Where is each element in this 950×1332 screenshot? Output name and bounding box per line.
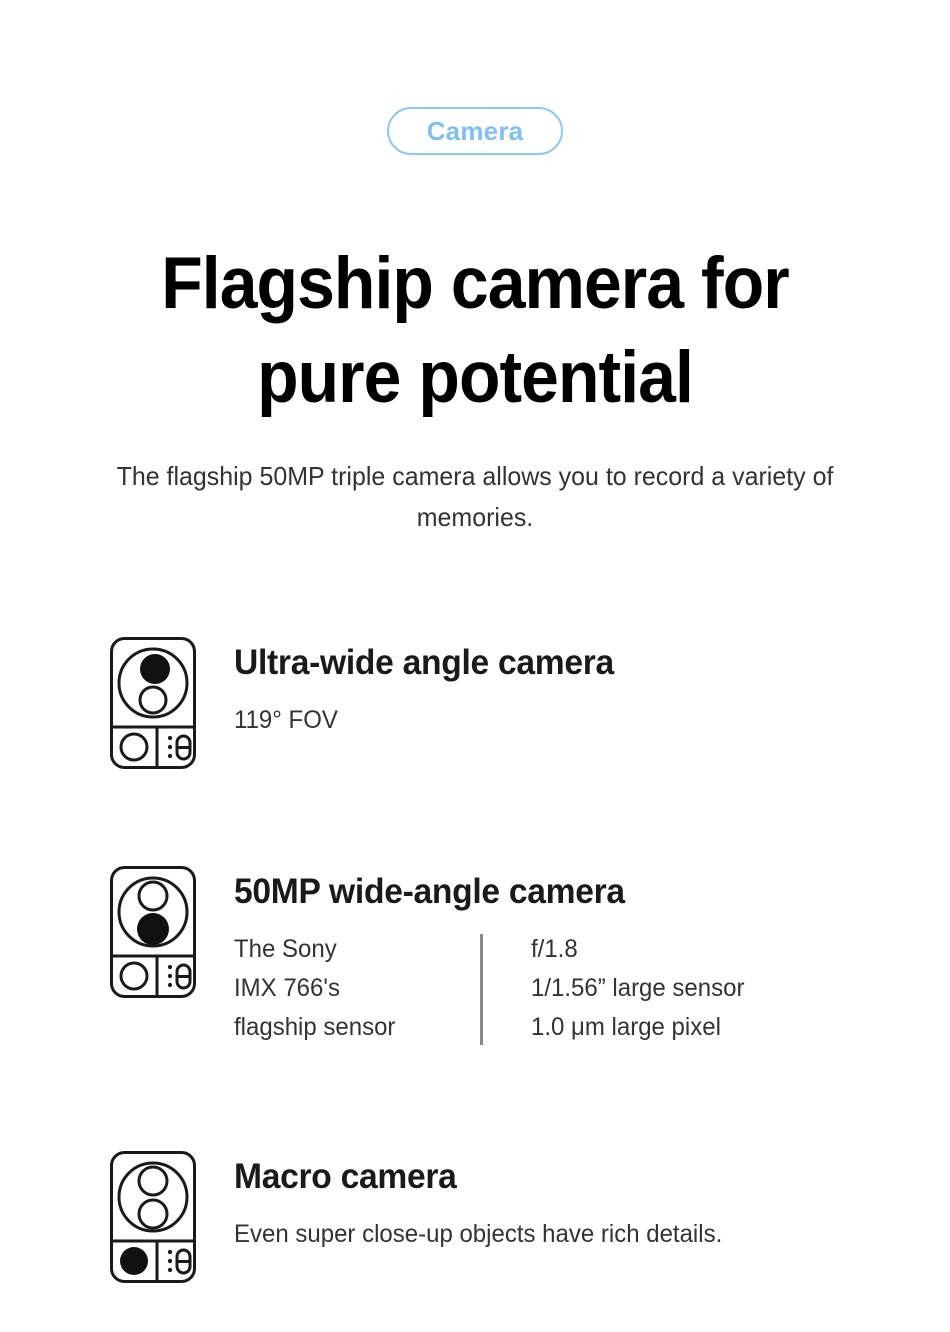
feature-title-wide-angle: 50MP wide-angle camera — [234, 872, 733, 912]
spec-left-line-1: The Sony — [234, 930, 470, 969]
badge-container: Camera — [0, 107, 950, 155]
feature-title-ultra-wide: Ultra-wide angle camera — [234, 643, 614, 683]
camera-module-macro-icon — [110, 1151, 196, 1283]
spec-column-right: f/1.8 1/1.56” large sensor 1.0 μm large … — [483, 930, 753, 1047]
page-title-line-1: Flagship camera for — [161, 243, 788, 324]
camera-badge-label: Camera — [427, 118, 524, 144]
spec-right-line-2: 1/1.56” large sensor — [531, 969, 744, 1008]
feature-body-wide-angle: 50MP wide-angle camera The Sony IMX 766'… — [234, 866, 753, 1047]
page-title: Flagship camera for pure potential — [89, 237, 861, 425]
camera-module-wideangle-icon — [110, 866, 196, 998]
feature-title-macro: Macro camera — [234, 1157, 722, 1197]
feature-sub-macro: Even super close-up objects have rich de… — [234, 1215, 722, 1254]
spec-columns: The Sony IMX 766's flagship sensor f/1.8… — [234, 930, 753, 1047]
camera-badge[interactable]: Camera — [387, 107, 563, 155]
spec-right-line-3: 1.0 μm large pixel — [531, 1008, 744, 1047]
feature-row-macro: Macro camera Even super close-up objects… — [110, 1151, 743, 1283]
spec-left-line-3: flagship sensor — [234, 1008, 470, 1047]
page-subtitle: The flagship 50MP triple camera allows y… — [91, 456, 859, 538]
spec-right-line-1: f/1.8 — [531, 930, 744, 969]
feature-sub-ultra-wide: 119° FOV — [234, 701, 614, 740]
camera-module-ultrawide-icon — [110, 637, 196, 769]
feature-body-macro: Macro camera Even super close-up objects… — [234, 1151, 743, 1254]
spec-left-line-2: IMX 766's — [234, 969, 470, 1008]
page-title-line-2: pure potential — [257, 337, 693, 418]
page-subtitle-line-1: The flagship 50MP triple camera allows y… — [117, 461, 726, 491]
feature-body-ultra-wide: Ultra-wide angle camera 119° FOV — [234, 637, 630, 740]
feature-row-ultra-wide: Ultra-wide angle camera 119° FOV — [110, 637, 630, 769]
spec-column-left: The Sony IMX 766's flagship sensor — [234, 930, 480, 1047]
feature-row-wide-angle: 50MP wide-angle camera The Sony IMX 766'… — [110, 866, 753, 1047]
